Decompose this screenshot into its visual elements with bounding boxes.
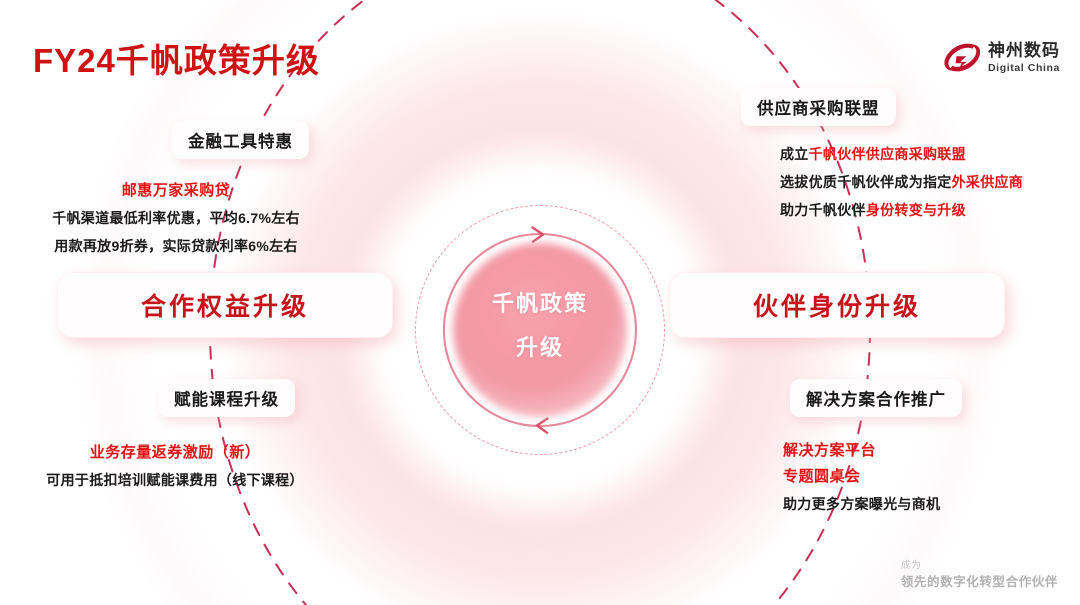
detail-alliance-line-1-black: 成立: [780, 146, 809, 162]
footer-watermark-line2: 领先的数字化转型合作伙伴: [901, 573, 1058, 591]
brand-logo: 神州数码 Digital China: [940, 40, 1060, 76]
page-title: FY24千帆政策升级: [33, 34, 320, 82]
chip-course-upgrade[interactable]: 赋能课程升级: [158, 379, 295, 417]
pillar-left-label: 合作权益升级: [141, 287, 309, 323]
detail-course-line-1: 可用于抵扣培训赋能课费用（线下课程）: [14, 466, 336, 494]
detail-course-highlight: 业务存量返券激励（新）: [14, 440, 336, 466]
detail-alliance-line-3-black: 助力千帆伙伴: [780, 202, 866, 218]
chip-solution-promotion[interactable]: 解决方案合作推广: [790, 379, 962, 417]
detail-supplier-alliance: 成立千帆伙伴供应商采购联盟 选拔优质千帆伙伴成为指定外采供应商 助力千帆伙伴身份…: [780, 140, 1070, 224]
detail-alliance-line-2-red: 外采供应商: [952, 174, 1024, 190]
detail-alliance-line-3: 助力千帆伙伴身份转变与升级: [780, 196, 1070, 224]
detail-alliance-line-2: 选拔优质千帆伙伴成为指定外采供应商: [780, 168, 1070, 196]
brand-logo-text: 神州数码 Digital China: [988, 42, 1060, 74]
detail-alliance-line-2-black: 选拔优质千帆伙伴成为指定: [780, 174, 952, 190]
chip-solution-promotion-label: 解决方案合作推广: [806, 386, 946, 410]
center-label: 千帆政策 升级: [430, 282, 650, 370]
detail-finance-highlight: 邮惠万家采购贷: [16, 178, 336, 204]
slide-canvas: 千帆政策 升级 FY24千帆政策升级 神州数码 Digital China 合作…: [0, 0, 1080, 605]
footer-watermark: 成为 领先的数字化转型合作伙伴: [901, 559, 1058, 591]
detail-finance-tools: 邮惠万家采购贷 千帆渠道最低利率优惠，平均6.7%左右 用款再放9折券，实际贷款…: [16, 178, 336, 260]
detail-alliance-line-1: 成立千帆伙伴供应商采购联盟: [780, 140, 1070, 168]
footer-watermark-line1: 成为: [901, 559, 1058, 573]
digital-china-swirl-icon: [940, 40, 980, 76]
chip-supplier-alliance[interactable]: 供应商采购联盟: [741, 88, 896, 126]
brand-name-cn: 神州数码: [988, 42, 1060, 59]
center-label-line1: 千帆政策: [430, 282, 650, 326]
pillar-right-partner-identity[interactable]: 伙伴身份升级: [669, 272, 1005, 338]
detail-finance-line-2: 用款再放9折券，实际贷款利率6%左右: [16, 232, 336, 260]
detail-solution-promotion: 解决方案平台 专题圆桌会 助力更多方案曝光与商机: [783, 438, 1068, 518]
detail-alliance-line-3-red: 身份转变与升级: [866, 202, 966, 218]
chip-supplier-alliance-label: 供应商采购联盟: [757, 95, 880, 119]
detail-alliance-line-1-red: 千帆伙伴供应商采购联盟: [809, 146, 966, 162]
pillar-right-label: 伙伴身份升级: [753, 287, 921, 323]
chip-course-upgrade-label: 赋能课程升级: [174, 386, 279, 410]
chip-finance-tools-label: 金融工具特惠: [188, 128, 293, 152]
detail-finance-line-1: 千帆渠道最低利率优惠，平均6.7%左右: [16, 204, 336, 232]
center-label-line2: 升级: [430, 326, 650, 370]
detail-solution-line-1: 助力更多方案曝光与商机: [783, 490, 1068, 518]
detail-solution-highlight-2: 专题圆桌会: [783, 464, 1068, 490]
brand-name-en: Digital China: [988, 63, 1060, 74]
chip-finance-tools[interactable]: 金融工具特惠: [172, 121, 309, 159]
detail-course-upgrade: 业务存量返券激励（新） 可用于抵扣培训赋能课费用（线下课程）: [14, 440, 336, 494]
detail-solution-highlight-1: 解决方案平台: [783, 438, 1068, 464]
pillar-left-cooperation-benefits[interactable]: 合作权益升级: [57, 272, 393, 338]
